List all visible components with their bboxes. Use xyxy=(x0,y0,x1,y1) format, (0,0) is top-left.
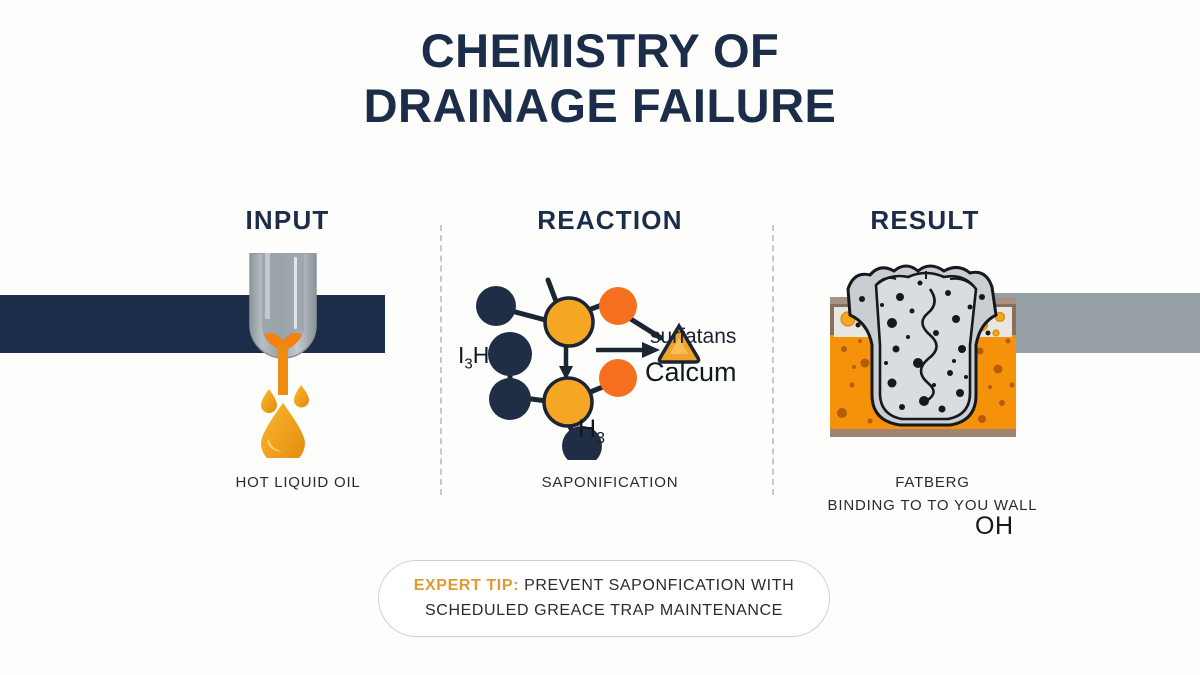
expert-tip-text: EXPERT TIP: PREVENT SAPONFICATION WITH S… xyxy=(388,574,820,624)
molecule-reaction-icon xyxy=(448,250,768,460)
reaction-illustration: OH xyxy=(440,250,772,460)
caption-result-line-1: FATBERG xyxy=(895,474,970,491)
molecule-label-i3h: I3H xyxy=(458,342,489,373)
atom-node-amber-top xyxy=(545,298,593,346)
column-header-input: INPUT xyxy=(160,205,415,236)
oil-stream xyxy=(278,345,288,395)
caption-reaction: SAPONIFICATION xyxy=(460,472,760,495)
page-title-line-2: DRAINAGE FAILURE xyxy=(0,79,1200,134)
atom-node-orange-bottom xyxy=(599,359,637,397)
fatberg-pipe-cross-section-icon xyxy=(830,245,1040,460)
molecule-label-surfactants: surfatans xyxy=(650,325,736,349)
result-illustration xyxy=(772,245,1200,465)
oil-droplet-small-right xyxy=(294,385,309,408)
expert-tip-prefix: EXPERT TIP: xyxy=(414,577,519,594)
caption-result-line-2: BINDING TO TO YOU WALL xyxy=(828,497,1038,514)
atom-node-dark-mid-left xyxy=(488,332,532,376)
atom-node-dark-low-left xyxy=(489,378,531,420)
column-header-result: RESULT xyxy=(805,205,1045,236)
page-title-line-1: CHEMISTRY OF xyxy=(0,24,1200,79)
expert-tip-pill: EXPERT TIP: PREVENT SAPONFICATION WITH S… xyxy=(378,560,830,637)
expert-tip-body-line-2: SCHEDULED GREACE TRAP MAINTENANCE xyxy=(425,602,783,619)
column-header-reaction: REACTION xyxy=(465,205,755,236)
page-title: CHEMISTRY OF DRAINAGE FAILURE xyxy=(0,24,1200,133)
pipe-wall-bottom-rim xyxy=(830,429,1016,437)
caption-result: FATBERG BINDING TO TO YOU WALL xyxy=(805,472,1060,517)
atom-node-dark-top-left xyxy=(476,286,516,326)
oil-droplet-small-left xyxy=(261,389,277,413)
atom-node-orange-top xyxy=(599,287,637,325)
faucet-dripping-oil-icon xyxy=(228,253,338,458)
reaction-arrow-down xyxy=(559,342,573,380)
input-illustration xyxy=(0,255,440,455)
expert-tip-body-line-1: PREVENT SAPONFICATION WITH xyxy=(519,577,794,594)
molecule-label-h3: H3 xyxy=(578,415,605,448)
molecule-label-calcium: Calcum xyxy=(645,357,737,388)
caption-input: HOT LIQUID OIL xyxy=(168,472,428,495)
